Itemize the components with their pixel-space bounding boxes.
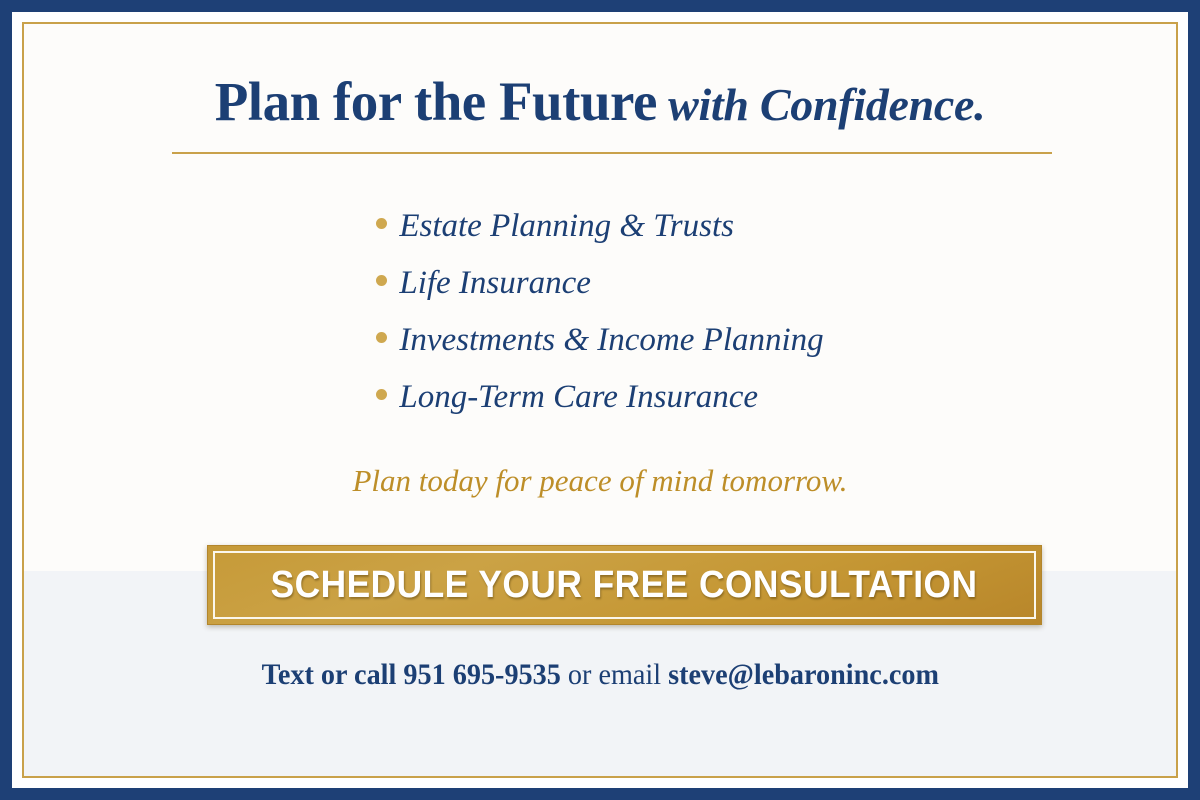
contact-email-address[interactable]: steve@lebaroninc.com	[668, 658, 939, 691]
tagline: Plan today for peace of mind tomorrow.	[24, 465, 1176, 496]
bullet-dot-icon	[376, 389, 387, 400]
cta-button-label: SCHEDULE YOUR FREE CONSULTATION	[271, 564, 978, 607]
contact-middle-text: or email	[561, 658, 668, 691]
list-item: Estate Planning & Trusts	[376, 210, 823, 267]
service-label: Life Insurance	[399, 267, 591, 300]
flyer-root: Plan for the Future with Confidence. Est…	[0, 0, 1200, 800]
gold-divider	[172, 152, 1052, 154]
bullet-dot-icon	[376, 332, 387, 343]
cta-inner-border: SCHEDULE YOUR FREE CONSULTATION	[213, 551, 1036, 619]
list-item: Investments & Income Planning	[376, 324, 823, 381]
headline-italic: with Confidence.	[657, 79, 985, 130]
list-item: Life Insurance	[376, 267, 823, 324]
schedule-consultation-button[interactable]: SCHEDULE YOUR FREE CONSULTATION	[207, 545, 1042, 625]
bullet-dot-icon	[376, 218, 387, 229]
frame-white-band: Plan for the Future with Confidence. Est…	[12, 12, 1188, 788]
services-list: Estate Planning & Trusts Life Insurance …	[24, 210, 1176, 438]
list-item: Long-Term Care Insurance	[376, 381, 823, 438]
contact-phone-number[interactable]: 951 695-9535	[403, 658, 560, 691]
flyer-content: Plan for the Future with Confidence. Est…	[24, 24, 1176, 776]
bullet-dot-icon	[376, 275, 387, 286]
contact-lead-text: Text or call	[261, 658, 403, 691]
headline-main: Plan for the Future	[215, 71, 657, 132]
services-list-inner: Estate Planning & Trusts Life Insurance …	[376, 210, 823, 438]
service-label: Estate Planning & Trusts	[399, 210, 734, 243]
contact-line: Text or call 951 695-9535 or email steve…	[24, 660, 1176, 690]
page-title: Plan for the Future with Confidence.	[24, 74, 1176, 129]
service-label: Investments & Income Planning	[399, 324, 823, 357]
frame-gold-hairline: Plan for the Future with Confidence. Est…	[22, 22, 1178, 778]
service-label: Long-Term Care Insurance	[399, 381, 758, 414]
